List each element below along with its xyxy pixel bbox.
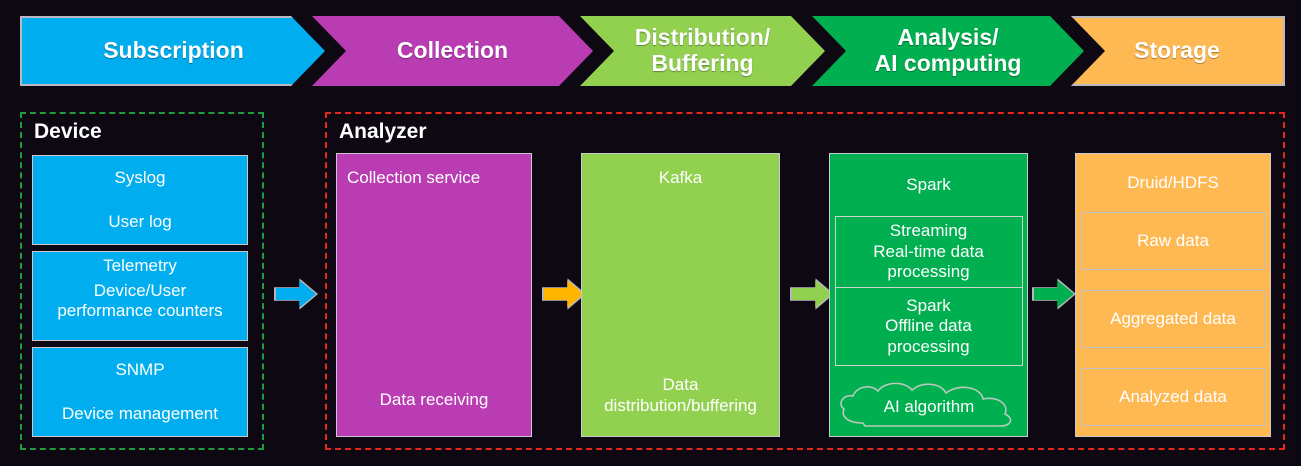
storage-header: Druid/HDFS [1076, 154, 1270, 212]
kafka-block[interactable]: Kafka Data distribution/buffering [581, 153, 780, 437]
spark-block[interactable]: Spark Streaming Real-time data processin… [829, 153, 1028, 437]
stage-distribution-buffering[interactable]: Distribution/ Buffering [580, 16, 825, 86]
device-block-syslog-title: Syslog [33, 156, 247, 200]
device-block-snmp-title: SNMP [33, 348, 247, 392]
collection-service-block[interactable]: Collection service Data receiving [336, 153, 532, 437]
pipeline-banner: Subscription Collection Distribution/ Bu… [20, 16, 1285, 86]
stage-storage-label: Storage [1134, 38, 1220, 64]
arrow-device-to-collection-fill [276, 279, 316, 309]
spark-cell-streaming[interactable]: Streaming Real-time data processing [835, 216, 1023, 288]
stage-analysis-ai-computing[interactable]: Analysis/ AI computing [812, 16, 1084, 86]
device-block-telemetry[interactable]: Telemetry Device/User performance counte… [32, 251, 248, 341]
stage-subscription-label: Subscription [103, 38, 244, 64]
device-group-title: Device [34, 120, 102, 144]
analyzer-group-title: Analyzer [339, 120, 427, 144]
device-block-snmp[interactable]: SNMP Device management [32, 347, 248, 437]
device-block-telemetry-title: Telemetry [33, 252, 247, 281]
device-block-syslog-subtitle: User log [33, 200, 247, 244]
storage-cell-raw-data[interactable]: Raw data [1081, 212, 1265, 270]
device-block-snmp-subtitle: Device management [33, 392, 247, 436]
kafka-bottom-label: Data distribution/buffering [582, 295, 779, 436]
stage-subscription[interactable]: Subscription [20, 16, 325, 86]
kafka-top-label: Kafka [582, 154, 779, 295]
spark-cell-ai-algorithm[interactable]: AI algorithm [835, 379, 1023, 435]
storage-cell-analyzed-data[interactable]: Analyzed data [1081, 368, 1265, 426]
device-block-telemetry-subtitle: Device/User performance counters [33, 281, 247, 340]
stage-distribution-buffering-label: Distribution/ Buffering [635, 25, 770, 77]
storage-cell-aggregated-data[interactable]: Aggregated data [1081, 290, 1265, 348]
spark-cell-ai-algorithm-label: AI algorithm [835, 397, 1023, 417]
spark-header: Spark [830, 154, 1027, 216]
collection-service-top-label: Collection service [337, 154, 531, 295]
stage-analysis-label: Analysis/ AI computing [875, 25, 1022, 77]
storage-block[interactable]: Druid/HDFS Raw data Aggregated data Anal… [1075, 153, 1271, 437]
stage-storage[interactable]: Storage [1071, 16, 1285, 86]
spark-cell-offline[interactable]: Spark Offline data processing [835, 288, 1023, 366]
stage-collection-label: Collection [397, 38, 508, 64]
device-block-syslog[interactable]: Syslog User log [32, 155, 248, 245]
stage-collection[interactable]: Collection [312, 16, 593, 86]
collection-service-bottom-label: Data receiving [337, 295, 531, 436]
